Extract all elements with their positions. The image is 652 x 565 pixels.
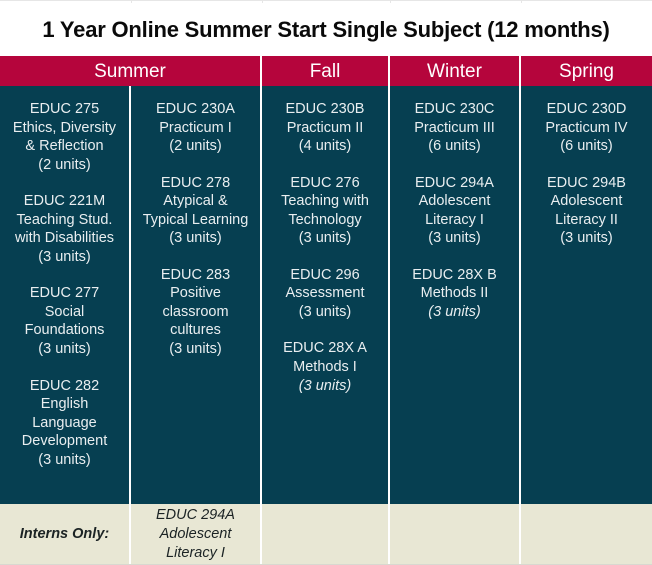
course-line: Language <box>6 414 123 433</box>
column-summer-a: EDUC 275Ethics, Diversity& Reflection(2 … <box>0 86 131 504</box>
course-line: Atypical & <box>137 192 254 211</box>
course-entry: EDUC 294BAdolescentLiteracy II(3 units) <box>527 174 646 248</box>
header-summer: Summer <box>0 56 262 86</box>
interns-course-text: EDUC 294AAdolescentLiteracy I <box>156 506 235 563</box>
course-code: EDUC 282 <box>6 377 123 396</box>
course-entry: EDUC 221MTeaching Stud.with Disabilities… <box>6 192 123 266</box>
course-units: (3 units) <box>268 377 382 396</box>
season-header-row: Summer Fall Winter Spring <box>0 56 652 86</box>
course-line: Technology <box>268 211 382 230</box>
course-line: Ethics, Diversity <box>6 119 123 138</box>
course-line: (6 units) <box>527 137 646 156</box>
course-line: (2 units) <box>6 156 123 175</box>
course-line: classroom <box>137 303 254 322</box>
page-title-text: 1 Year Online Summer Start Single Subjec… <box>42 17 609 43</box>
course-line: (3 units) <box>6 248 123 267</box>
course-line: & Reflection <box>6 137 123 156</box>
course-code: EDUC 275 <box>6 100 123 119</box>
course-line: Development <box>6 432 123 451</box>
course-line: Practicum II <box>268 119 382 138</box>
interns-only-row: Interns Only: EDUC 294AAdolescentLiterac… <box>0 504 652 565</box>
course-code: EDUC 296 <box>268 266 382 285</box>
course-units: (3 units) <box>396 303 513 322</box>
course-line: (3 units) <box>268 303 382 322</box>
column-fall: EDUC 230BPracticum II(4 units)EDUC 276Te… <box>262 86 390 504</box>
course-schedule-table: 1 Year Online Summer Start Single Subjec… <box>0 0 652 565</box>
course-code: EDUC 294A <box>396 174 513 193</box>
course-line: Teaching with <box>268 192 382 211</box>
course-entry: EDUC 277SocialFoundations(3 units) <box>6 284 123 358</box>
course-line: (3 units) <box>396 229 513 248</box>
course-code: EDUC 294B <box>527 174 646 193</box>
course-code: EDUC 230C <box>396 100 513 119</box>
course-line: with Disabilities <box>6 229 123 248</box>
header-spring: Spring <box>521 56 652 86</box>
course-code: EDUC 221M <box>6 192 123 211</box>
course-entry: EDUC 276Teaching withTechnology(3 units) <box>268 174 382 248</box>
course-code: EDUC 28X A <box>268 339 382 358</box>
course-entry: EDUC 283Positiveclassroomcultures(3 unit… <box>137 266 254 359</box>
course-line: (4 units) <box>268 137 382 156</box>
course-entry: EDUC 278Atypical &Typical Learning(3 uni… <box>137 174 254 248</box>
course-code: EDUC 283 <box>137 266 254 285</box>
course-line: Methods II <box>396 284 513 303</box>
course-entry: EDUC 275Ethics, Diversity& Reflection(2 … <box>6 100 123 174</box>
course-line: Teaching Stud. <box>6 211 123 230</box>
course-code: EDUC 28X B <box>396 266 513 285</box>
course-entry: EDUC 230DPracticum IV(6 units) <box>527 100 646 156</box>
course-line: (3 units) <box>6 340 123 359</box>
course-entry: EDUC 294AAdolescentLiteracy I(3 units) <box>396 174 513 248</box>
interns-course-line: Literacy I <box>156 544 235 563</box>
interns-winter-cell <box>390 504 521 565</box>
course-line: Adolescent <box>527 192 646 211</box>
course-line: (3 units) <box>6 451 123 470</box>
interns-fall-cell <box>262 504 390 565</box>
course-entry: EDUC 282EnglishLanguageDevelopment(3 uni… <box>6 377 123 470</box>
course-entry: EDUC 28X BMethods II(3 units) <box>396 266 513 322</box>
interns-course-line: Adolescent <box>156 525 235 544</box>
course-line: (2 units) <box>137 137 254 156</box>
course-line: (3 units) <box>137 229 254 248</box>
interns-course-line: EDUC 294A <box>156 506 235 525</box>
page-title: 1 Year Online Summer Start Single Subjec… <box>0 3 652 56</box>
course-entry: EDUC 28X AMethods I(3 units) <box>268 339 382 395</box>
course-line: English <box>6 395 123 414</box>
header-winter: Winter <box>390 56 521 86</box>
course-entry: EDUC 230CPracticum III(6 units) <box>396 100 513 156</box>
course-code: EDUC 278 <box>137 174 254 193</box>
header-fall: Fall <box>262 56 390 86</box>
course-line: Adolescent <box>396 192 513 211</box>
interns-summer-b-course: EDUC 294AAdolescentLiteracy I <box>131 504 262 565</box>
course-line: (3 units) <box>268 229 382 248</box>
course-entry: EDUC 230BPracticum II(4 units) <box>268 100 382 156</box>
course-line: Literacy II <box>527 211 646 230</box>
course-line: (3 units) <box>137 340 254 359</box>
course-line: cultures <box>137 321 254 340</box>
course-entry: EDUC 230APracticum I(2 units) <box>137 100 254 156</box>
course-body-row: EDUC 275Ethics, Diversity& Reflection(2 … <box>0 86 652 504</box>
course-code: EDUC 230B <box>268 100 382 119</box>
interns-spring-cell <box>521 504 652 565</box>
course-line: Positive <box>137 284 254 303</box>
course-code: EDUC 230A <box>137 100 254 119</box>
course-line: Foundations <box>6 321 123 340</box>
column-summer-b: EDUC 230APracticum I(2 units)EDUC 278Aty… <box>131 86 262 504</box>
course-line: (3 units) <box>527 229 646 248</box>
course-line: Practicum III <box>396 119 513 138</box>
interns-only-label: Interns Only: <box>0 504 131 565</box>
course-entry: EDUC 296Assessment(3 units) <box>268 266 382 322</box>
column-spring: EDUC 230DPracticum IV(6 units)EDUC 294BA… <box>521 86 652 504</box>
course-line: Practicum IV <box>527 119 646 138</box>
course-line: Practicum I <box>137 119 254 138</box>
course-line: Typical Learning <box>137 211 254 230</box>
interns-only-label-text: Interns Only: <box>20 525 109 544</box>
column-winter: EDUC 230CPracticum III(6 units)EDUC 294A… <box>390 86 521 504</box>
course-code: EDUC 230D <box>527 100 646 119</box>
course-line: Literacy I <box>396 211 513 230</box>
course-line: Social <box>6 303 123 322</box>
course-line: Assessment <box>268 284 382 303</box>
course-line: Methods I <box>268 358 382 377</box>
course-line: (6 units) <box>396 137 513 156</box>
course-code: EDUC 277 <box>6 284 123 303</box>
course-code: EDUC 276 <box>268 174 382 193</box>
